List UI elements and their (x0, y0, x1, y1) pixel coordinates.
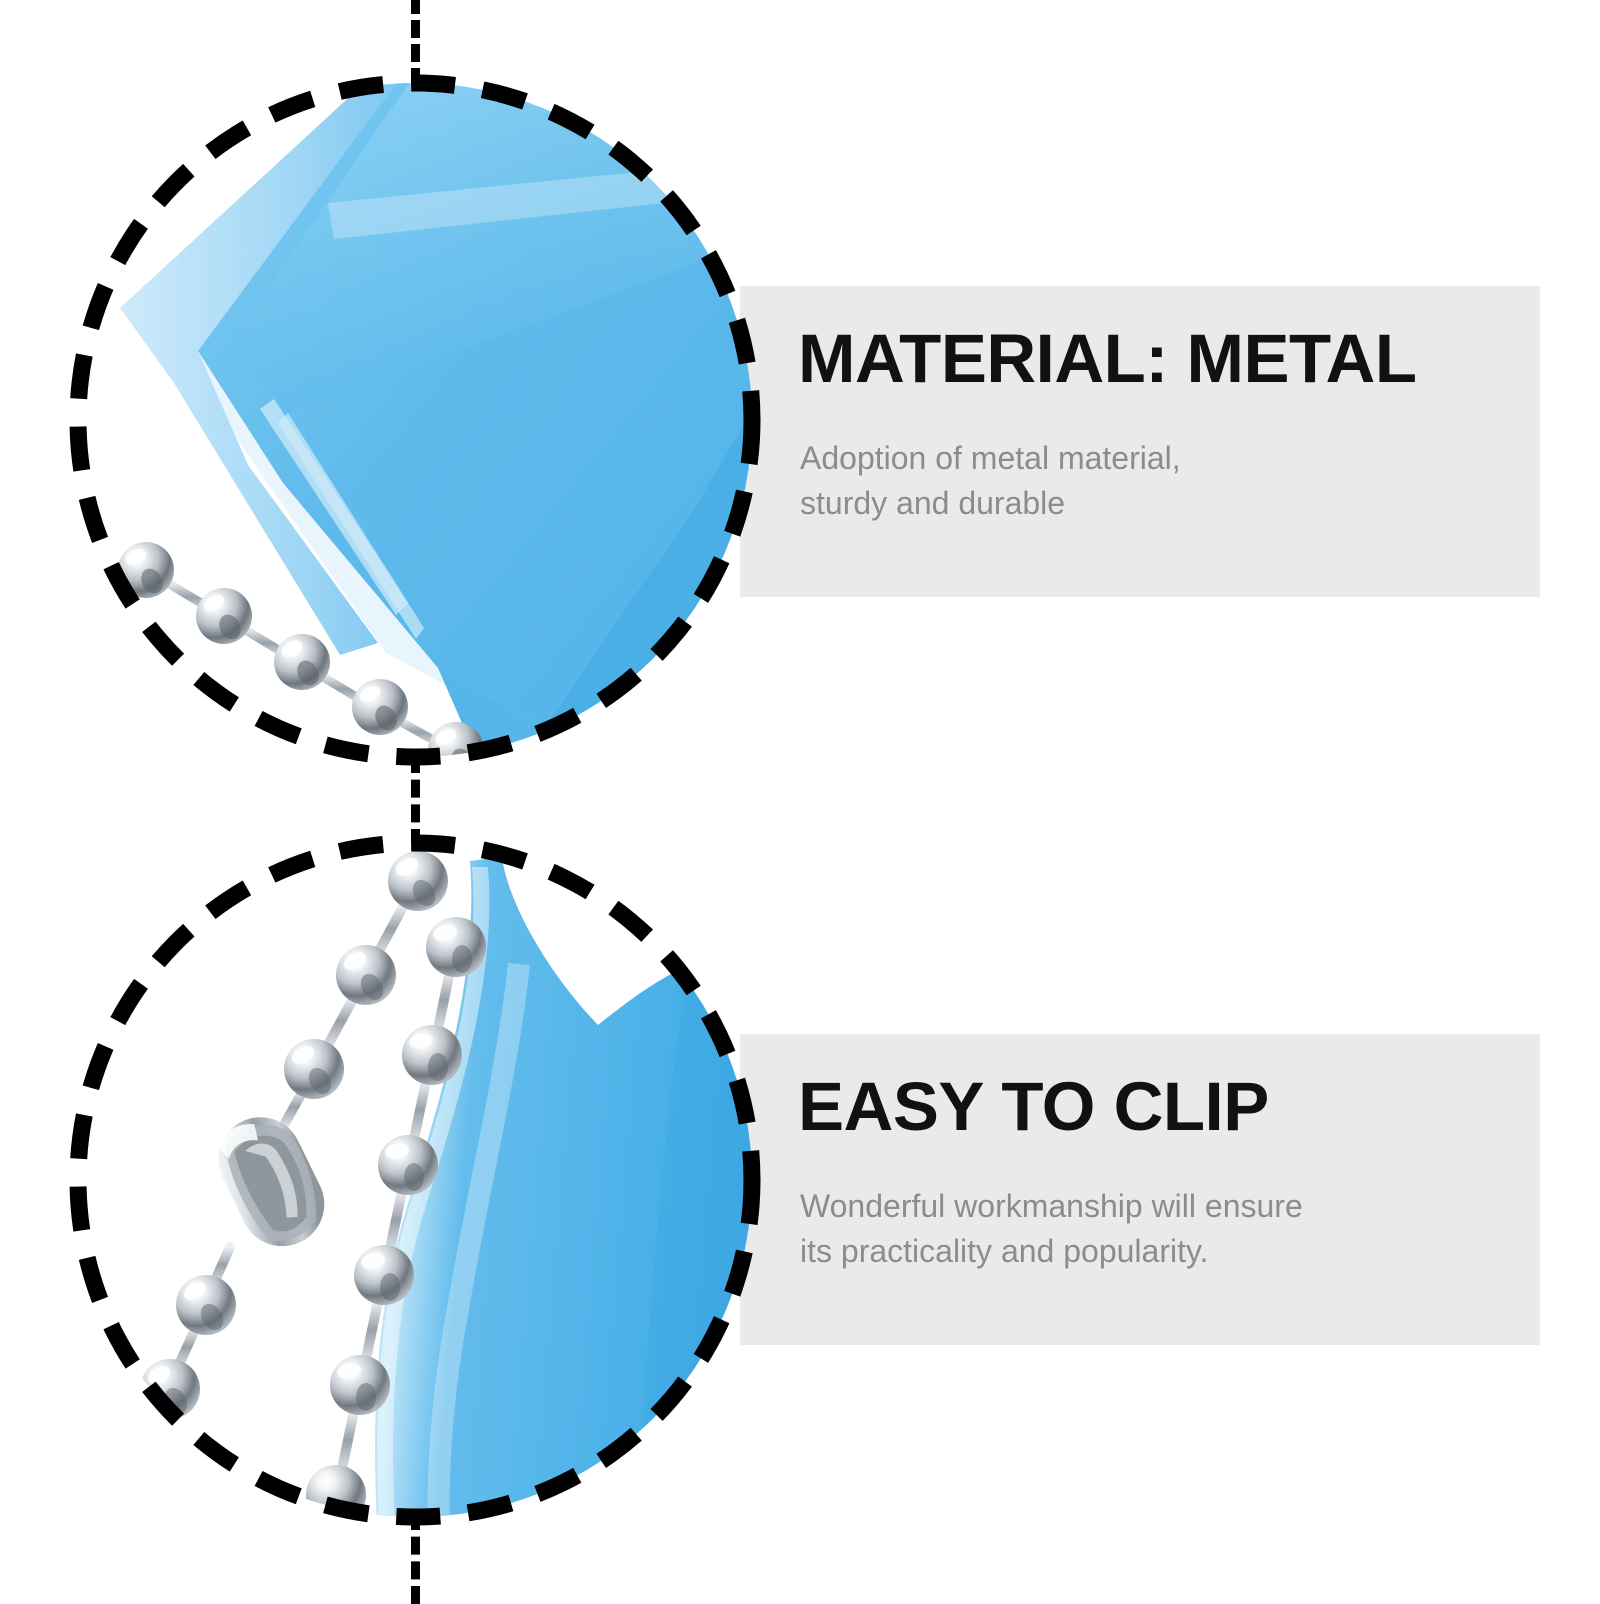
feature-panel-clip: EASY TO CLIP Wonderful workmanship will … (740, 1034, 1540, 1345)
feature-description-material: Adoption of metal material, sturdy and d… (800, 436, 1181, 527)
connector-stem-bottom (411, 1512, 420, 1604)
feature-title-material: MATERIAL: METAL (798, 324, 1417, 393)
connector-stem-top (411, 0, 420, 86)
connector-stem-middle (411, 755, 420, 847)
feature-photo-clip (78, 843, 752, 1517)
feature-title-clip: EASY TO CLIP (798, 1072, 1269, 1141)
feature-panel-material: MATERIAL: METAL Adoption of metal materi… (740, 286, 1540, 597)
feature-photo-material (78, 83, 752, 757)
infographic-canvas: MATERIAL: METAL Adoption of metal materi… (0, 0, 1600, 1600)
feature-description-clip: Wonderful workmanship will ensure its pr… (800, 1184, 1303, 1275)
